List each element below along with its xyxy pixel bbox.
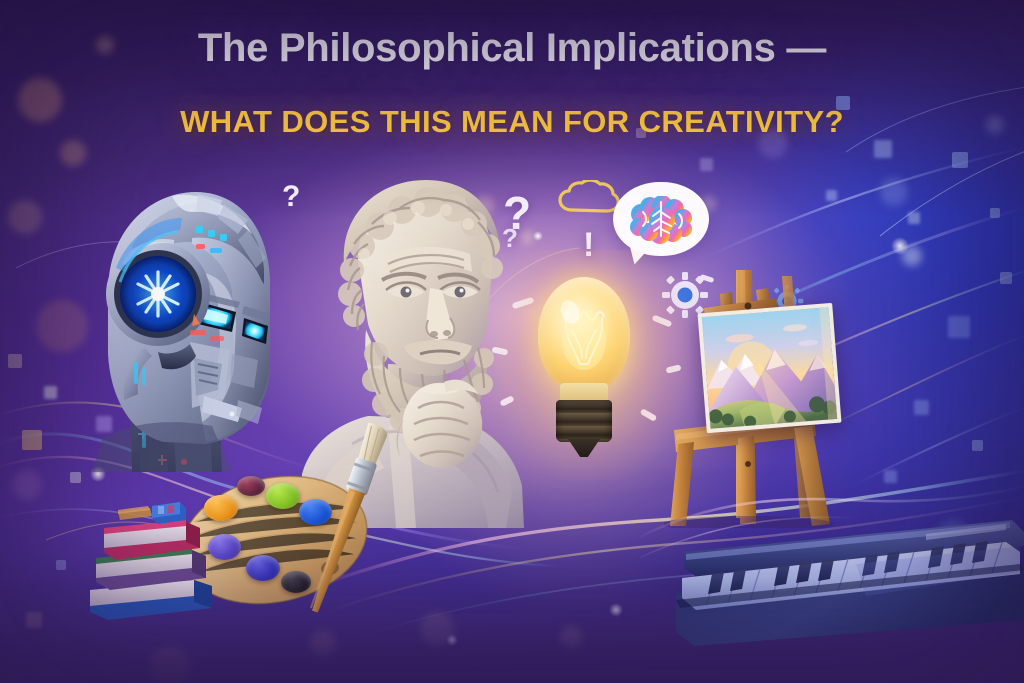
paint-blob-maroon <box>237 476 265 496</box>
illustration-canvas: ? ? ! ? <box>0 0 1024 683</box>
easel-canvas-painting <box>698 303 842 433</box>
page-subtitle: WHAT DOES THIS MEAN FOR CREATIVITY? <box>0 104 1024 140</box>
book-stack <box>88 502 216 626</box>
cloud-icon <box>558 180 620 216</box>
page-title: The Philosophical Implications — <box>0 26 1024 71</box>
light-bulb-base <box>556 400 612 442</box>
piano-light-ribbons <box>640 470 1024 670</box>
robot-head <box>72 172 272 472</box>
paint-brush <box>286 418 402 618</box>
light-bulb-filament <box>538 286 630 396</box>
brain-icon <box>627 196 697 246</box>
paint-blob-indigo <box>246 555 280 581</box>
